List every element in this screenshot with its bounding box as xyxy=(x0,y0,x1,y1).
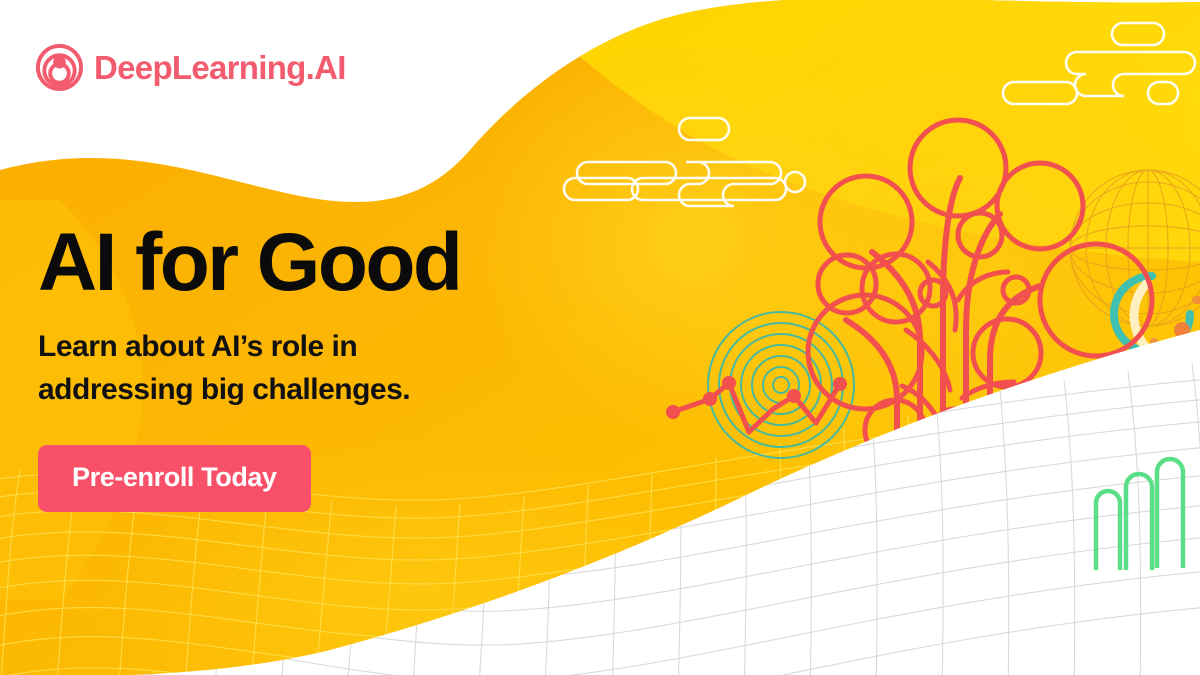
subheading-line-2: addressing big challenges. xyxy=(38,373,410,406)
pre-enroll-button[interactable]: Pre-enroll Today xyxy=(38,445,311,512)
hero-subheading: Learn about AI’s role in addressing big … xyxy=(38,326,558,411)
page-title: AI for Good xyxy=(38,222,658,304)
deeplearning-spiral-logo-icon xyxy=(36,44,83,91)
brand-logo[interactable]: DeepLearning.AI xyxy=(36,44,346,91)
brand-name: DeepLearning.AI xyxy=(94,51,346,84)
subheading-line-1: Learn about AI’s role in xyxy=(38,330,357,363)
promotional-banner: DeepLearning.AI AI for Good Learn about … xyxy=(0,0,1200,675)
hero-copy: AI for Good Learn about AI’s role in add… xyxy=(38,222,658,512)
